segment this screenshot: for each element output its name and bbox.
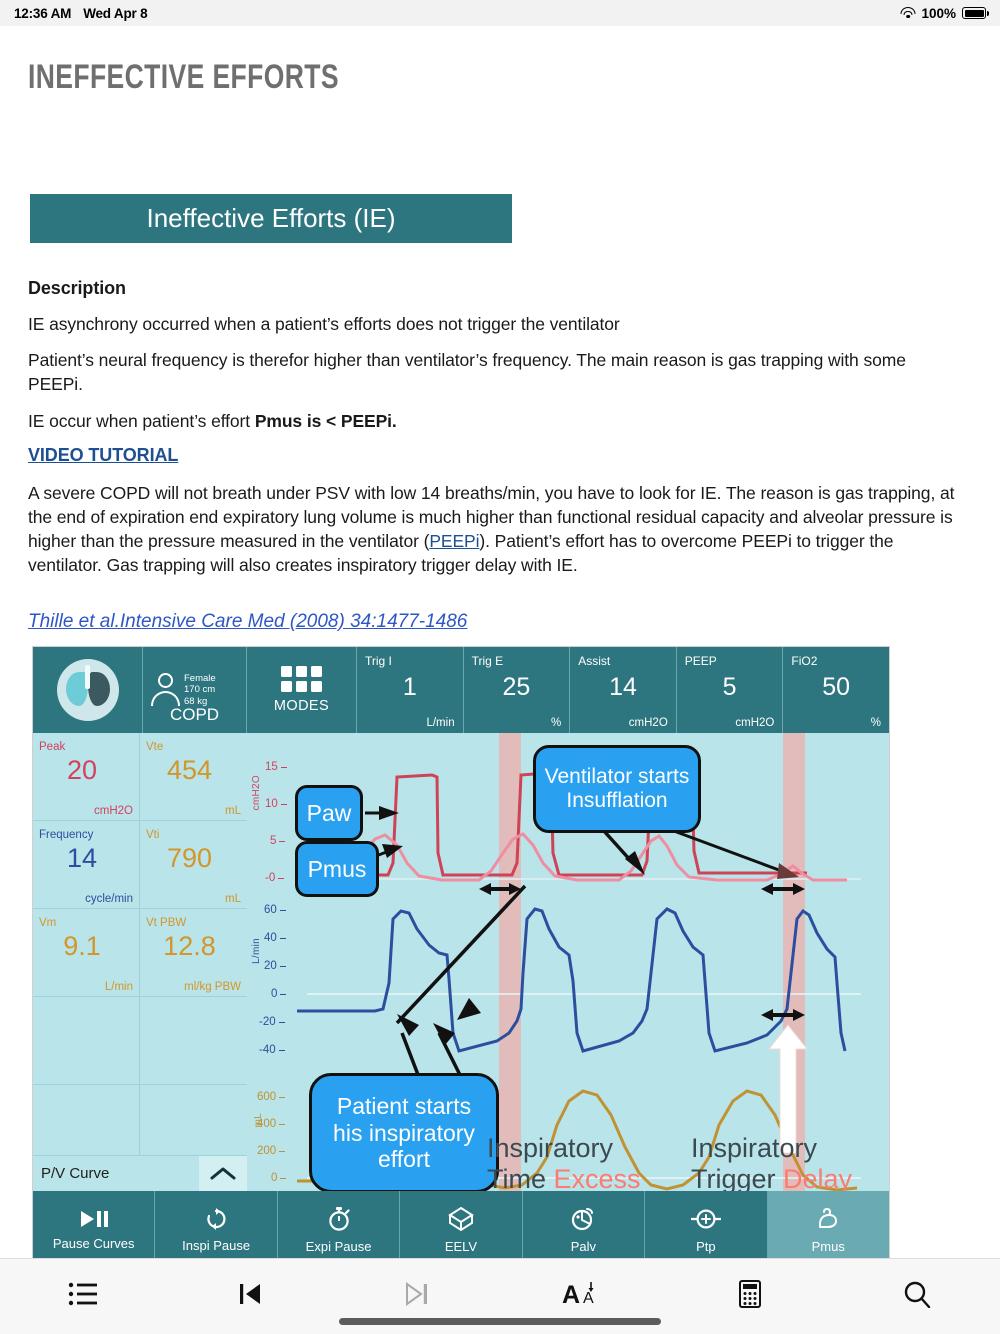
transpulmonary-icon [691,1206,721,1232]
alveolus-icon [570,1206,596,1232]
setting-name: Assist [578,654,610,668]
app-bottom-toolbar: AA [0,1258,1000,1334]
setting-value: 5 [677,673,783,702]
status-bar-right: 100% [900,6,986,21]
paragraph-3-bold: Pmus is < PEEPi. [255,411,397,431]
biceps-icon [815,1206,841,1232]
tool-label: Expi Pause [306,1239,372,1254]
lungs-glyph [57,659,119,721]
setting-unit: L/min [426,717,454,729]
tool-label: Pmus [812,1239,845,1254]
person-icon [151,672,181,708]
measurement-name: Vm [39,917,56,929]
tool-label: Ptp [696,1239,716,1254]
setting-unit: cmH2O [629,717,668,729]
svg-text:A: A [562,1281,580,1308]
stopwatch-icon [327,1206,351,1232]
patient-info-cell[interactable]: Female 170 cm 68 kg COPD [143,647,247,733]
pv-curve-row[interactable]: P/V Curve [33,1155,247,1191]
callout-patient-starts-effort: Patient starts his inspiratory effort [309,1073,499,1193]
paragraph-4: A severe COPD will not breath under PSV … [28,481,964,578]
search-icon [903,1280,931,1313]
insp-time-excess-marker [479,883,521,895]
citation-link[interactable]: Thille et al.Intensive Care Med (2008) 3… [28,611,467,633]
measurement-vt-pbw[interactable]: Vt PBW 12.8 ml/kg PBW [140,909,247,997]
status-time: 12:36 AM [14,6,71,21]
setting-value: 1 [357,673,463,702]
setting-assist[interactable]: Assist 14 cmH2O [570,647,677,733]
grid-icon [281,666,322,692]
status-bar-left: 12:36 AM Wed Apr 8 [14,6,147,21]
setting-unit: % [551,717,561,729]
peepi-link[interactable]: PEEPi [429,531,479,551]
calculator-button[interactable] [667,1259,834,1334]
refresh-circle-icon [204,1207,228,1231]
setting-name: FiO2 [791,654,817,668]
waveform-panel: cmH2O L/min mL 15 10 5 -0 60 40 20 0 -20… [247,733,889,1193]
measurement-vti[interactable]: Vti 790 mL [140,821,247,909]
setting-unit: cmH2O [735,717,774,729]
calculator-icon [739,1280,761,1313]
lungs-icon[interactable] [33,647,143,733]
battery-full-icon [962,7,986,19]
paragraph-3: IE occur when patient’s effort Pmus is <… [28,409,964,433]
ventilator-screen-figure: Female 170 cm 68 kg COPD MODES Trig I 1 … [32,646,890,1270]
right-lung-shape [88,672,110,706]
measurement-value: 20 [33,755,131,786]
callout-paw-label: Paw [307,800,352,827]
chevron-up-icon[interactable] [199,1156,247,1192]
measurement-name: Vt PBW [146,917,186,929]
annotation-line-2a: Time [487,1164,554,1194]
callout-pmus: Pmus [295,841,379,897]
status-bar: 12:36 AM Wed Apr 8 100% [0,0,1000,26]
annotation-inspiratory-trigger-delay: Inspiratory Trigger Delay [691,1133,852,1194]
callout-ventilator-starts-insufflation: Ventilator starts Insufflation [533,745,701,833]
ventilator-header: Female 170 cm 68 kg COPD MODES Trig I 1 … [33,647,889,733]
video-tutorial-link[interactable]: VIDEO TUTORIAL [28,445,178,466]
setting-value: 25 [464,673,570,702]
tool-label: Pause Curves [53,1236,135,1251]
setting-value: 14 [570,673,676,702]
setting-name: Trig I [365,654,392,668]
text-size-icon: AA [562,1280,604,1313]
measurement-peak[interactable]: Peak 20 cmH2O [33,733,140,821]
measurement-vte[interactable]: Vte 454 mL [140,733,247,821]
measurement-value: 790 [140,843,239,874]
measurement-vm[interactable]: Vm 9.1 L/min [33,909,140,997]
measurement-unit: cmH2O [94,805,133,817]
callout-patient-label: Patient starts his inspiratory effort [324,1093,484,1173]
document-page: INEFFECTIVE EFFORTS Ineffective Efforts … [0,26,1000,1334]
next-page-icon [405,1281,429,1312]
section-banner-label: Ineffective Efforts (IE) [146,203,395,234]
paragraph-3-text: IE occur when patient’s effort [28,411,255,431]
tool-label: Palv [571,1239,596,1254]
contents-icon [68,1281,98,1312]
description-heading: Description [28,276,964,301]
status-date: Wed Apr 8 [83,6,147,21]
measurement-unit: mL [225,805,241,817]
trigger-delay-marker-top [761,883,805,895]
measurement-value: 12.8 [140,931,239,962]
pv-curve-label: P/V Curve [33,1165,109,1182]
measurement-empty-1[interactable] [33,997,140,1085]
setting-unit: % [871,717,881,729]
tool-label: EELV [445,1239,477,1254]
svg-text:A: A [583,1290,594,1307]
previous-page-button[interactable] [167,1259,334,1334]
paragraph-2: Patient’s neural frequency is therefor h… [28,348,964,396]
measurement-panel: Peak 20 cmH2O Vte 454 mL Frequency 14 cy… [33,733,247,1193]
paragraph-1: IE asynchrony occurred when a patient’s … [28,312,964,336]
callout-pmus-label: Pmus [308,856,367,883]
annotation-line-2b: Delay [783,1164,852,1194]
setting-value: 50 [783,673,889,702]
callout-ventilator-label: Ventilator starts Insufflation [536,765,698,814]
modes-button[interactable]: MODES [247,647,357,733]
patient-details: Female 170 cm 68 kg [184,673,216,707]
play-pause-icon [79,1209,109,1229]
measurement-unit: L/min [105,981,133,993]
contents-button[interactable] [0,1259,167,1334]
measurement-name: Vti [146,829,159,841]
annotation-line-2b: Excess [554,1164,641,1194]
home-indicator[interactable] [339,1318,661,1325]
wifi-icon [900,7,915,19]
setting-trig-e[interactable]: Trig E 25 % [464,647,571,733]
trachea-shape [85,665,90,689]
measurement-empty-2[interactable] [140,997,247,1085]
setting-name: PEEP [685,654,717,668]
annotation-inspiratory-time-excess: Inspiratory Time Excess [487,1133,641,1194]
patient-condition: COPD [143,705,246,725]
setting-name: Trig E [472,654,504,668]
measurement-name: Vte [146,741,163,753]
patient-sex: Female [184,673,216,684]
tool-label: Inspi Pause [182,1238,250,1253]
ventilator-body: Peak 20 cmH2O Vte 454 mL Frequency 14 cy… [33,733,889,1193]
callout-paw: Paw [295,785,363,841]
measurement-value: 9.1 [33,931,131,962]
measurement-name: Peak [39,741,65,753]
measurement-value: 14 [33,843,131,874]
measurement-unit: cycle/min [85,893,133,905]
patient-height: 170 cm [184,684,216,695]
setting-trig-i[interactable]: Trig I 1 L/min [357,647,464,733]
measurement-unit: mL [225,893,241,905]
measurement-frequency[interactable]: Frequency 14 cycle/min [33,821,140,909]
search-button[interactable] [833,1259,1000,1334]
page-title: INEFFECTIVE EFFORTS [28,58,339,97]
annotation-line-2a: Trigger [691,1164,783,1194]
modes-label: MODES [274,698,329,714]
section-banner: Ineffective Efforts (IE) [30,194,512,243]
measurement-unit: ml/kg PBW [184,981,241,993]
battery-percent-label: 100% [921,6,956,21]
setting-fio2[interactable]: FiO2 50 % [783,647,889,733]
annotation-line-1: Inspiratory [691,1133,817,1163]
cube-icon [448,1206,474,1232]
previous-page-icon [238,1281,262,1312]
annotation-line-1: Inspiratory [487,1133,613,1163]
measurement-name: Frequency [39,829,93,841]
setting-peep[interactable]: PEEP 5 cmH2O [677,647,784,733]
measurement-value: 454 [140,755,239,786]
